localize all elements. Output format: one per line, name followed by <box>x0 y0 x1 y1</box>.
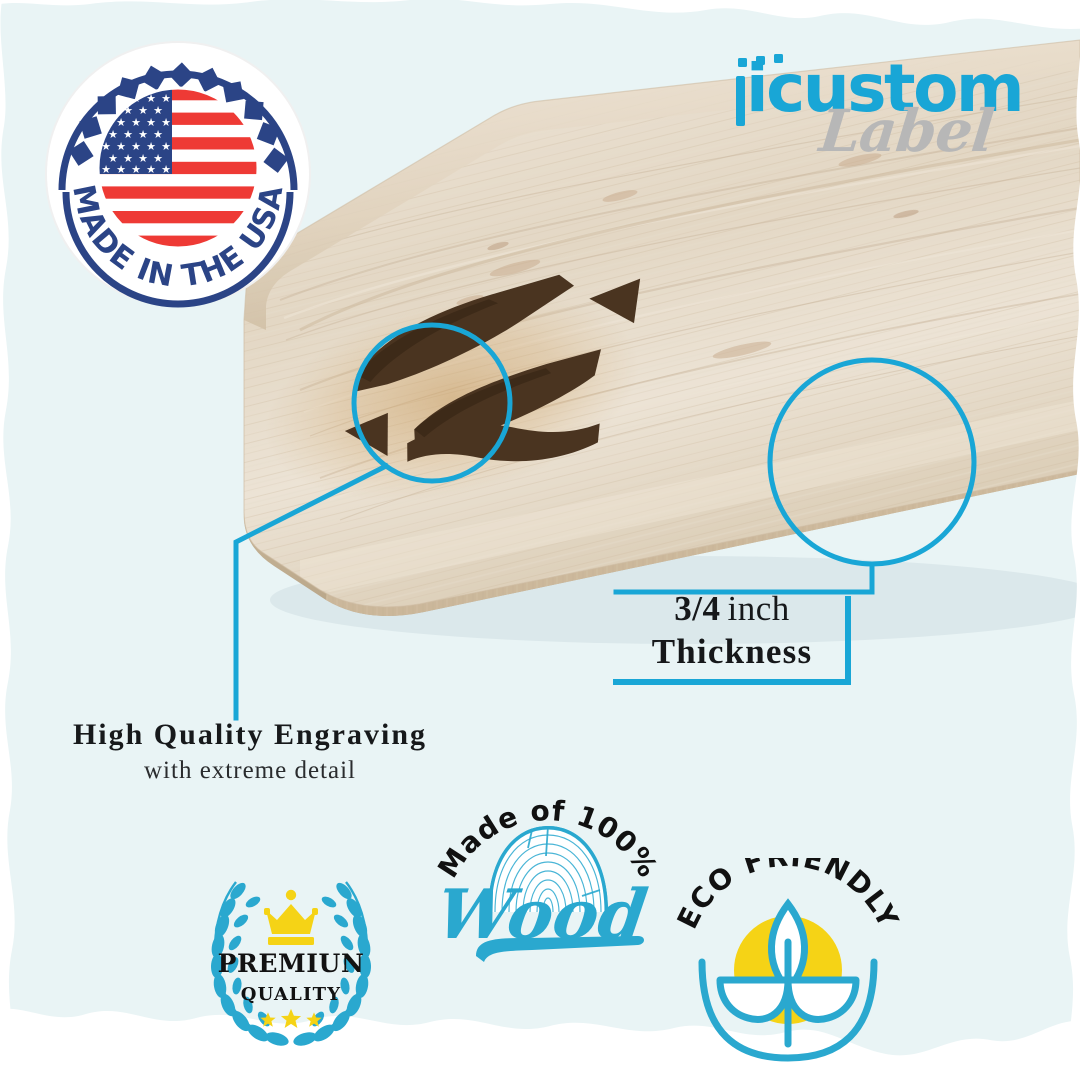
made-in-usa-badge: ★★★★★ ★★★★ ★★★★★ ★★★★ ★★★★★ ★★★★ ★★★★★ M… <box>44 40 312 308</box>
thickness-label: Thickness <box>612 630 852 674</box>
engraving-title: High Quality Engraving <box>20 716 480 754</box>
engraving-subtitle: with extreme detail <box>20 754 480 788</box>
thickness-value: 3/4 <box>674 589 720 628</box>
engraving-marker-circle <box>354 325 510 481</box>
badge-premium-quality: PREMIUN QUALITY <box>198 858 384 1050</box>
brand-script: Label <box>817 102 996 160</box>
infographic-canvas: 3/4inch Thickness High Quality Engraving… <box>0 0 1080 1080</box>
engraving-callout: High Quality Engraving with extreme deta… <box>20 716 480 788</box>
badge-eco-friendly: ECO FRIENDLY <box>672 858 904 1062</box>
svg-text:★: ★ <box>131 163 141 176</box>
premium-line1: PREMIUN <box>218 949 365 978</box>
svg-text:★: ★ <box>116 163 126 176</box>
crown-icon <box>264 890 318 945</box>
svg-text:★: ★ <box>161 163 171 176</box>
thickness-callout: 3/4inch Thickness <box>612 588 852 674</box>
svg-text:★: ★ <box>146 163 156 176</box>
badge-made-of-wood: Made of 100% Wood <box>432 786 664 976</box>
thickness-value-row: 3/4inch <box>612 588 852 630</box>
brand-logo: icustom Label <box>724 38 1054 166</box>
thickness-marker-circle <box>770 360 974 564</box>
engraving-leader-line <box>236 466 386 718</box>
premium-line2: QUALITY <box>241 984 342 1005</box>
thickness-unit: inch <box>727 589 789 628</box>
svg-text:★: ★ <box>101 163 111 176</box>
